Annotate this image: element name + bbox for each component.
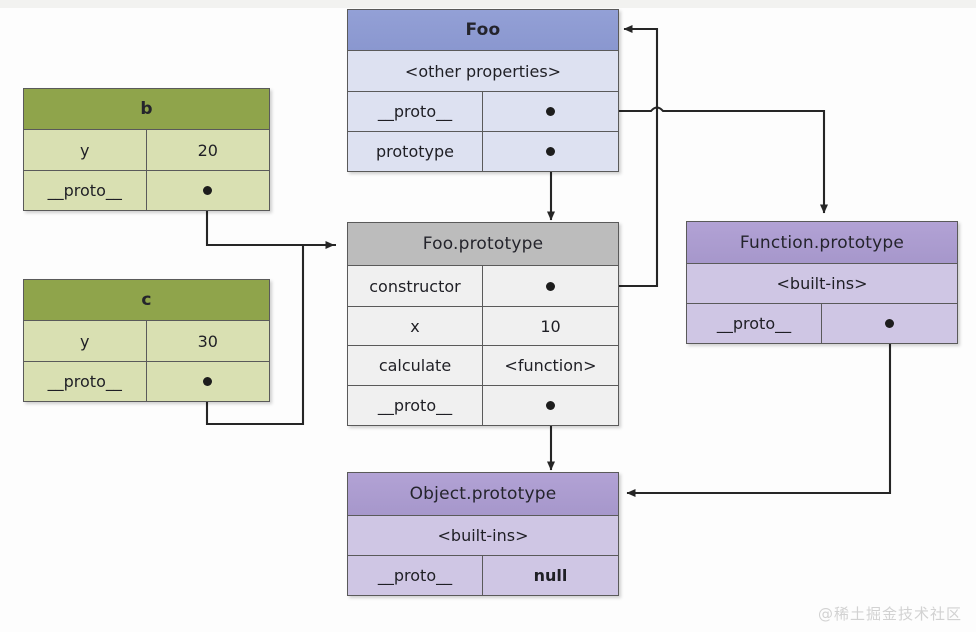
box-function-prototype-key-proto: __proto__ (687, 304, 822, 343)
box-function-prototype-row-proto[interactable]: __proto__ (687, 303, 957, 343)
reference-dot-icon (203, 186, 212, 195)
box-foo-prototype-value-calculate: <function> (483, 346, 618, 385)
box-b-row-y[interactable]: y 20 (24, 129, 269, 170)
box-foo-other-properties: <other properties> (348, 51, 618, 91)
box-function-prototype-header: Function.prototype (687, 222, 957, 263)
box-function-prototype[interactable]: Function.prototype <built-ins> __proto__ (686, 221, 958, 344)
box-foo-prototype-row-x[interactable]: x 10 (348, 306, 618, 345)
reference-dot-icon (546, 107, 555, 116)
reference-dot-icon (885, 319, 894, 328)
box-c-header: c (24, 280, 269, 320)
box-foo-prototype-value-proto (483, 386, 618, 425)
reference-dot-icon (546, 401, 555, 410)
box-function-prototype-title: Function.prototype (687, 222, 957, 263)
box-object-prototype[interactable]: Object.prototype <built-ins> __proto__ n… (347, 472, 619, 596)
box-object-prototype-value-proto: null (483, 556, 618, 595)
box-b-key-proto: __proto__ (24, 171, 147, 210)
box-c-value-proto (147, 362, 270, 401)
box-foo-row-prototype[interactable]: prototype (348, 131, 618, 171)
box-foo-prototype-row-calculate[interactable]: calculate <function> (348, 345, 618, 385)
box-c-key-proto: __proto__ (24, 362, 147, 401)
box-foo-prototype-key-proto: __proto__ (348, 386, 483, 425)
reference-dot-icon (546, 282, 555, 291)
box-b-header: b (24, 89, 269, 129)
box-foo[interactable]: Foo <other properties> __proto__ prototy… (347, 9, 619, 172)
edge-function-prototype-proto-to-object-prototype (627, 322, 890, 493)
box-foo-prototype-header: Foo.prototype (348, 223, 618, 265)
box-function-prototype-value-proto (822, 304, 957, 343)
box-b[interactable]: b y 20 __proto__ (23, 88, 270, 211)
box-foo-prototype-row-proto[interactable]: __proto__ (348, 385, 618, 425)
box-foo-prototype-title: Foo.prototype (348, 223, 618, 265)
box-function-prototype-row-builtins: <built-ins> (687, 263, 957, 303)
box-foo-prototype-value-x: 10 (483, 307, 618, 345)
box-function-prototype-builtins: <built-ins> (687, 264, 957, 303)
box-foo-row-proto[interactable]: __proto__ (348, 91, 618, 131)
box-b-value-y: 20 (147, 130, 270, 170)
diagram-canvas: b y 20 __proto__ c y 30 __proto__ (0, 0, 976, 632)
box-object-prototype-header: Object.prototype (348, 473, 618, 515)
box-foo-prototype-key-calculate: calculate (348, 346, 483, 385)
box-object-prototype-row-proto[interactable]: __proto__ null (348, 555, 618, 595)
box-object-prototype-key-proto: __proto__ (348, 556, 483, 595)
box-object-prototype-row-builtins: <built-ins> (348, 515, 618, 555)
box-foo-title: Foo (348, 10, 618, 50)
box-object-prototype-title: Object.prototype (348, 473, 618, 515)
box-foo-key-proto: __proto__ (348, 92, 483, 131)
reference-dot-icon (546, 147, 555, 156)
box-foo-value-proto (483, 92, 618, 131)
reference-dot-icon (203, 377, 212, 386)
box-object-prototype-builtins: <built-ins> (348, 516, 618, 555)
box-c-row-proto[interactable]: __proto__ (24, 361, 269, 401)
box-foo-key-prototype: prototype (348, 132, 483, 171)
box-foo-prototype-key-constructor: constructor (348, 266, 483, 306)
box-foo-header: Foo (348, 10, 618, 50)
box-foo-prototype-key-x: x (348, 307, 483, 345)
box-c-key-y: y (24, 321, 147, 361)
box-b-title: b (24, 89, 269, 129)
box-foo-row-other-properties: <other properties> (348, 50, 618, 91)
box-b-key-y: y (24, 130, 147, 170)
box-foo-prototype-value-constructor (483, 266, 618, 306)
watermark: @稀土掘金技术社区 (818, 603, 962, 624)
box-foo-prototype-row-constructor[interactable]: constructor (348, 265, 618, 306)
box-c[interactable]: c y 30 __proto__ (23, 279, 270, 402)
box-b-row-proto[interactable]: __proto__ (24, 170, 269, 210)
box-foo-value-prototype (483, 132, 618, 171)
box-b-value-proto (147, 171, 270, 210)
box-c-row-y[interactable]: y 30 (24, 320, 269, 361)
box-c-value-y: 30 (147, 321, 270, 361)
box-foo-prototype[interactable]: Foo.prototype constructor x 10 calculate… (347, 222, 619, 426)
box-c-title: c (24, 280, 269, 320)
